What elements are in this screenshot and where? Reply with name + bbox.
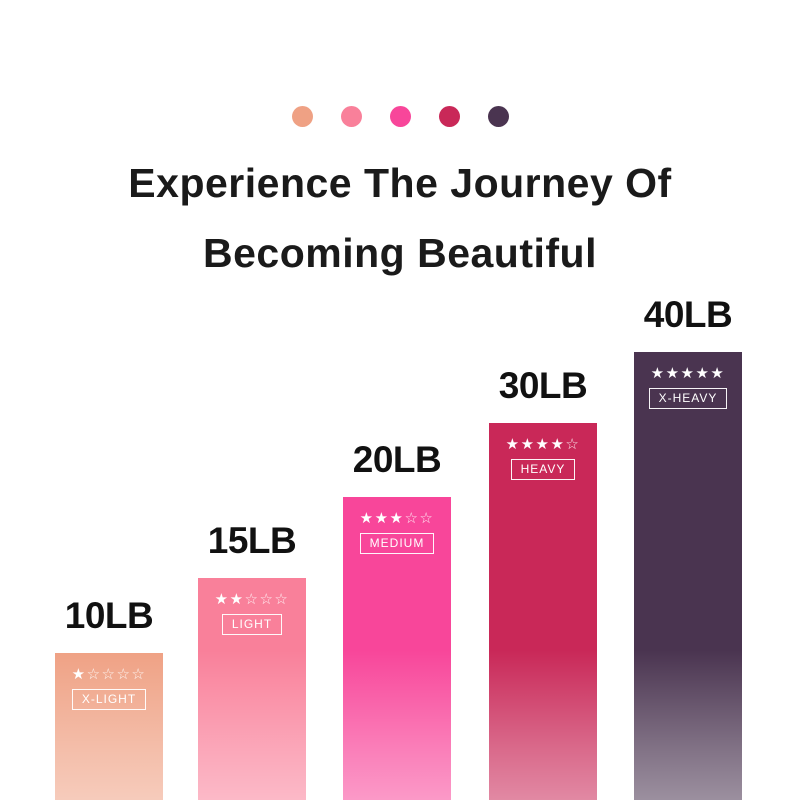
- bar-bottom-fade: [198, 650, 306, 800]
- bar-bottom-fade: [343, 650, 451, 800]
- bar-weight-label: 20LB: [343, 441, 451, 478]
- bar-content: ★★★★☆HEAVY: [489, 437, 597, 480]
- resistance-badge: X-LIGHT: [72, 689, 146, 710]
- infographic-canvas: Experience The Journey Of Becoming Beaut…: [0, 0, 800, 800]
- bar-group: 15LB★★☆☆☆LIGHT: [198, 578, 306, 800]
- star-rating-icon: ★★★☆☆: [360, 511, 435, 526]
- bar-column[interactable]: ★☆☆☆☆X-LIGHT: [55, 653, 163, 800]
- stars-empty: ☆☆☆☆: [87, 666, 147, 683]
- star-rating-icon: ★★★★☆: [506, 437, 581, 452]
- bar-group: 20LB★★★☆☆MEDIUM: [343, 497, 451, 800]
- stars-empty: ☆☆☆: [245, 591, 290, 608]
- stars-empty: ☆☆: [404, 510, 434, 527]
- stars-filled: ★★: [215, 591, 245, 608]
- resistance-badge: LIGHT: [222, 614, 282, 635]
- bar-group: 30LB★★★★☆HEAVY: [489, 423, 597, 800]
- bar-column[interactable]: ★★★★★X-HEAVY: [634, 352, 742, 800]
- bar-weight-label: 10LB: [55, 597, 163, 634]
- bar-content: ★☆☆☆☆X-LIGHT: [55, 667, 163, 710]
- bar-column[interactable]: ★★☆☆☆LIGHT: [198, 578, 306, 800]
- stars-filled: ★★★: [360, 510, 405, 527]
- bar-group: 40LB★★★★★X-HEAVY: [634, 352, 742, 800]
- stars-empty: ☆: [565, 436, 580, 453]
- resistance-badge: X-HEAVY: [649, 388, 728, 409]
- bar-weight-label: 40LB: [634, 296, 742, 333]
- bar-group: 10LB★☆☆☆☆X-LIGHT: [55, 653, 163, 800]
- resistance-badge: HEAVY: [511, 459, 576, 480]
- bar-content: ★★★☆☆MEDIUM: [343, 511, 451, 554]
- bar-bottom-fade: [489, 650, 597, 800]
- bar-column[interactable]: ★★★☆☆MEDIUM: [343, 497, 451, 800]
- stars-filled: ★★★★: [506, 436, 566, 453]
- stars-filled: ★★★★★: [651, 365, 726, 382]
- bar-weight-label: 30LB: [489, 367, 597, 404]
- star-rating-icon: ★☆☆☆☆: [72, 667, 147, 682]
- star-rating-icon: ★★☆☆☆: [215, 592, 290, 607]
- bar-weight-label: 15LB: [198, 522, 306, 559]
- bar-bottom-fade: [634, 650, 742, 800]
- bar-column[interactable]: ★★★★☆HEAVY: [489, 423, 597, 800]
- resistance-bar-chart: 10LB★☆☆☆☆X-LIGHT15LB★★☆☆☆LIGHT20LB★★★☆☆M…: [0, 0, 800, 800]
- bar-content: ★★★★★X-HEAVY: [634, 366, 742, 409]
- bar-content: ★★☆☆☆LIGHT: [198, 592, 306, 635]
- resistance-badge: MEDIUM: [360, 533, 435, 554]
- star-rating-icon: ★★★★★: [651, 366, 726, 381]
- stars-filled: ★: [72, 666, 87, 683]
